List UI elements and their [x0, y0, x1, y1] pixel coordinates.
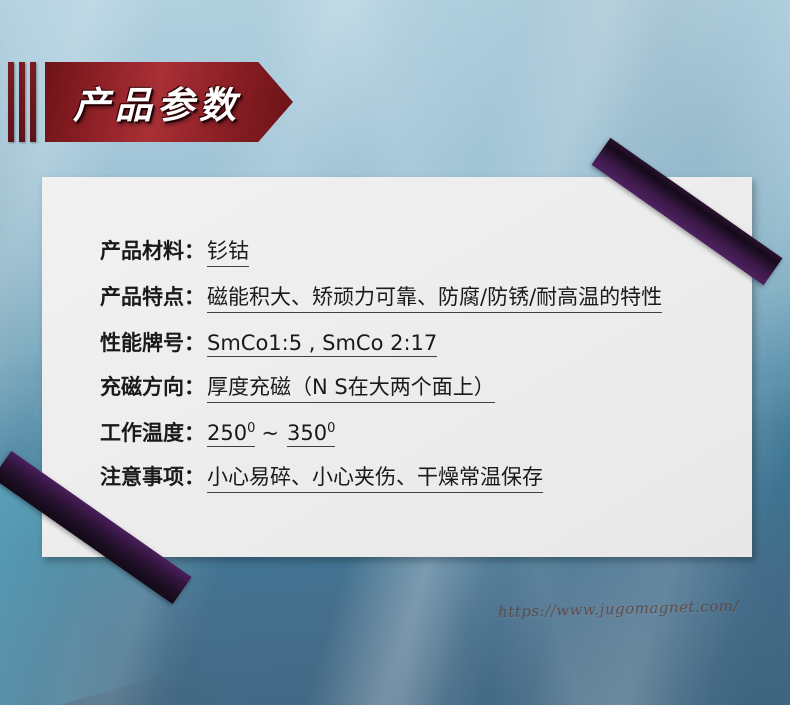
- spec-value-temperature-min: 2500: [207, 421, 255, 447]
- spec-value-features: 磁能积大、矫顽力可靠、防腐/防锈/耐高温的特性: [207, 281, 662, 313]
- spec-row-features: 产品特点： 磁能积大、矫顽力可靠、防腐/防锈/耐高温的特性: [100, 281, 732, 313]
- spec-value-precautions: 小心易碎、小心夹伤、干燥常温保存: [207, 461, 543, 493]
- page-title: 产品参数: [45, 75, 241, 129]
- temperature-max-number: 350: [287, 421, 327, 445]
- banner-tick-mark-3: [30, 62, 36, 142]
- spec-row-working-temperature: 工作温度： 2500 ~ 3500: [100, 417, 732, 447]
- temperature-range-separator: ~: [255, 421, 285, 445]
- spec-row-precautions: 注意事项： 小心易碎、小心夹伤、干燥常温保存: [100, 461, 732, 493]
- spec-label-magnetization-direction: 充磁方向：: [100, 371, 205, 401]
- spec-value-temperature-max: 3500: [287, 421, 335, 447]
- specification-list: 产品材料： 钐钴 产品特点： 磁能积大、矫顽力可靠、防腐/防锈/耐高温的特性 性…: [100, 235, 732, 507]
- spec-label-grade: 性能牌号：: [100, 327, 205, 357]
- section-title-banner: 产品参数: [8, 62, 293, 142]
- banner-chevron-shape: 产品参数: [45, 62, 293, 142]
- site-url-watermark: https://www.jugomagnet.com/: [498, 597, 739, 621]
- banner-tick-mark-2: [19, 62, 25, 142]
- temperature-min-unit: 0: [247, 421, 255, 436]
- spec-label-features: 产品特点：: [100, 281, 205, 311]
- banner-tick-mark-1: [8, 62, 14, 142]
- spec-value-magnetization-direction: 厚度充磁（N S在大两个面上）: [207, 371, 495, 403]
- spec-row-material: 产品材料： 钐钴: [100, 235, 732, 267]
- spec-row-grade: 性能牌号： SmCo1:5 , SmCo 2:17: [100, 327, 732, 357]
- temperature-min-number: 250: [207, 421, 247, 445]
- spec-label-material: 产品材料：: [100, 235, 205, 265]
- product-parameters-page: 产品参数 产品材料： 钐钴 产品特点： 磁能积大、矫顽力可靠、防腐/防锈/耐高温…: [0, 0, 790, 705]
- spec-label-working-temperature: 工作温度：: [100, 417, 205, 447]
- temperature-max-unit: 0: [327, 421, 335, 436]
- spec-row-magnetization-direction: 充磁方向： 厚度充磁（N S在大两个面上）: [100, 371, 732, 403]
- specification-card: 产品材料： 钐钴 产品特点： 磁能积大、矫顽力可靠、防腐/防锈/耐高温的特性 性…: [42, 177, 752, 557]
- spec-value-grade: SmCo1:5 , SmCo 2:17: [207, 331, 437, 357]
- spec-value-material: 钐钴: [207, 235, 249, 267]
- spec-label-precautions: 注意事项：: [100, 461, 205, 491]
